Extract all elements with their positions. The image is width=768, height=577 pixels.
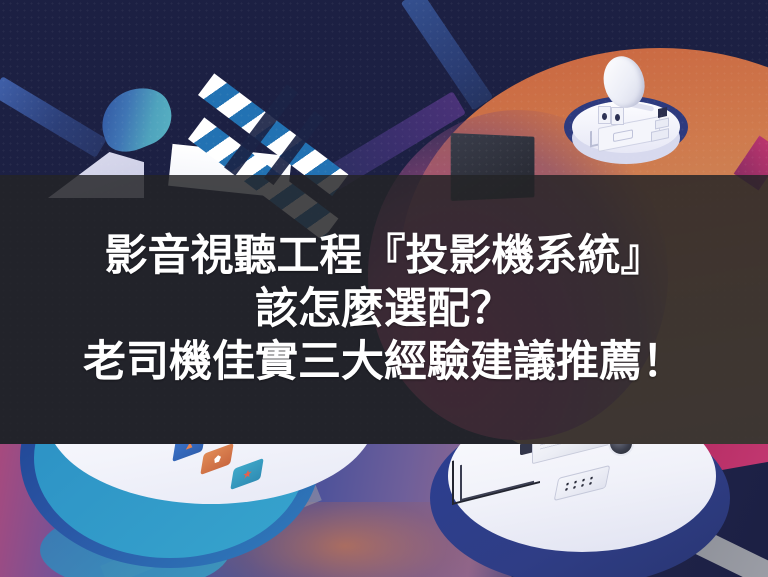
star-glyph-icon (241, 466, 254, 481)
banner-image: 影音視聽工程『投影機系統』 該怎麼選配？ 老司機佳實三大經驗建議推薦！ (0, 0, 768, 577)
triangle-glyph-icon (183, 444, 196, 453)
pentagon-glyph-icon (211, 451, 224, 466)
title-line-1: 影音視聽工程『投影機系統』 (105, 231, 664, 282)
banner-title-block: 影音視聽工程『投影機系統』 該怎麼選配？ 老司機佳實三大經驗建議推薦！ (0, 175, 768, 444)
title-line-2: 該怎麼選配？ (255, 284, 513, 335)
bottom-illustration-band (0, 444, 768, 577)
title-line-3: 老司機佳實三大經驗建議推薦！ (83, 337, 685, 388)
